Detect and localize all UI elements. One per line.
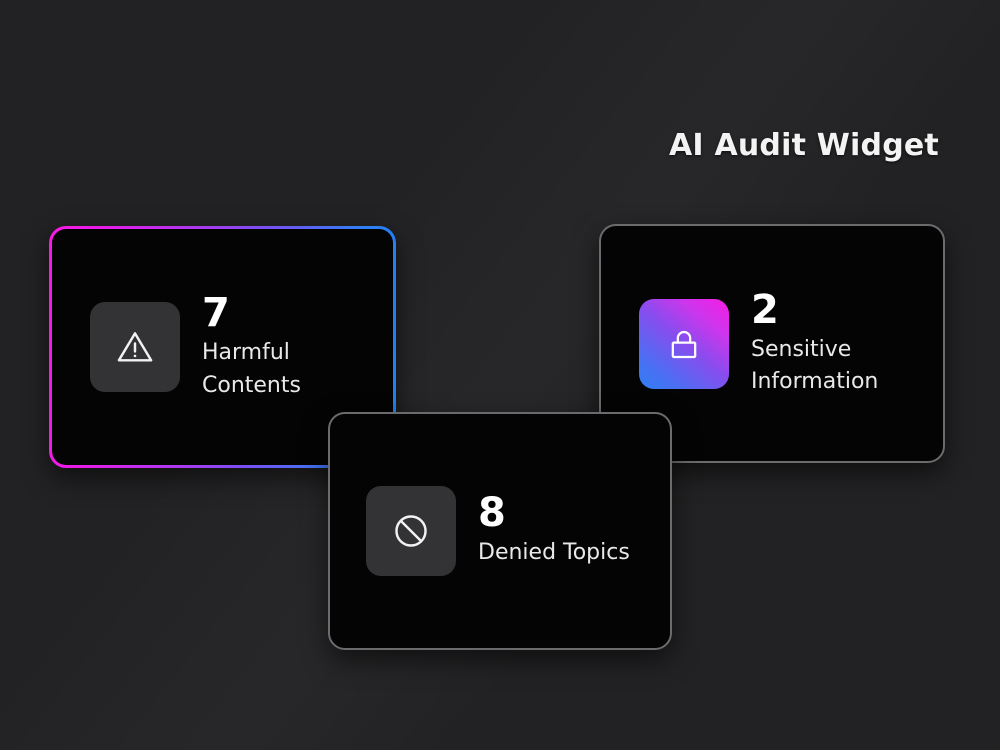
metric-label: Harmful Contents xyxy=(202,337,301,402)
metric-label: Sensitive Information xyxy=(751,334,878,399)
metric-count: 7 xyxy=(202,292,301,334)
metric-label: Denied Topics xyxy=(478,537,630,569)
lock-icon xyxy=(639,299,729,389)
card-text: 2 Sensitive Information xyxy=(751,289,878,399)
page-title: AI Audit Widget xyxy=(668,128,940,163)
warning-triangle-icon xyxy=(90,302,180,392)
card-text: 8 Denied Topics xyxy=(478,492,630,569)
metric-count: 2 xyxy=(751,289,878,331)
card-text: 7 Harmful Contents xyxy=(202,292,301,402)
metric-card-denied-topics[interactable]: 8 Denied Topics xyxy=(328,412,672,650)
ban-icon xyxy=(366,486,456,576)
metric-count: 8 xyxy=(478,492,630,534)
widget-canvas: AI Audit Widget 7 Harmful Contents xyxy=(0,0,1000,750)
